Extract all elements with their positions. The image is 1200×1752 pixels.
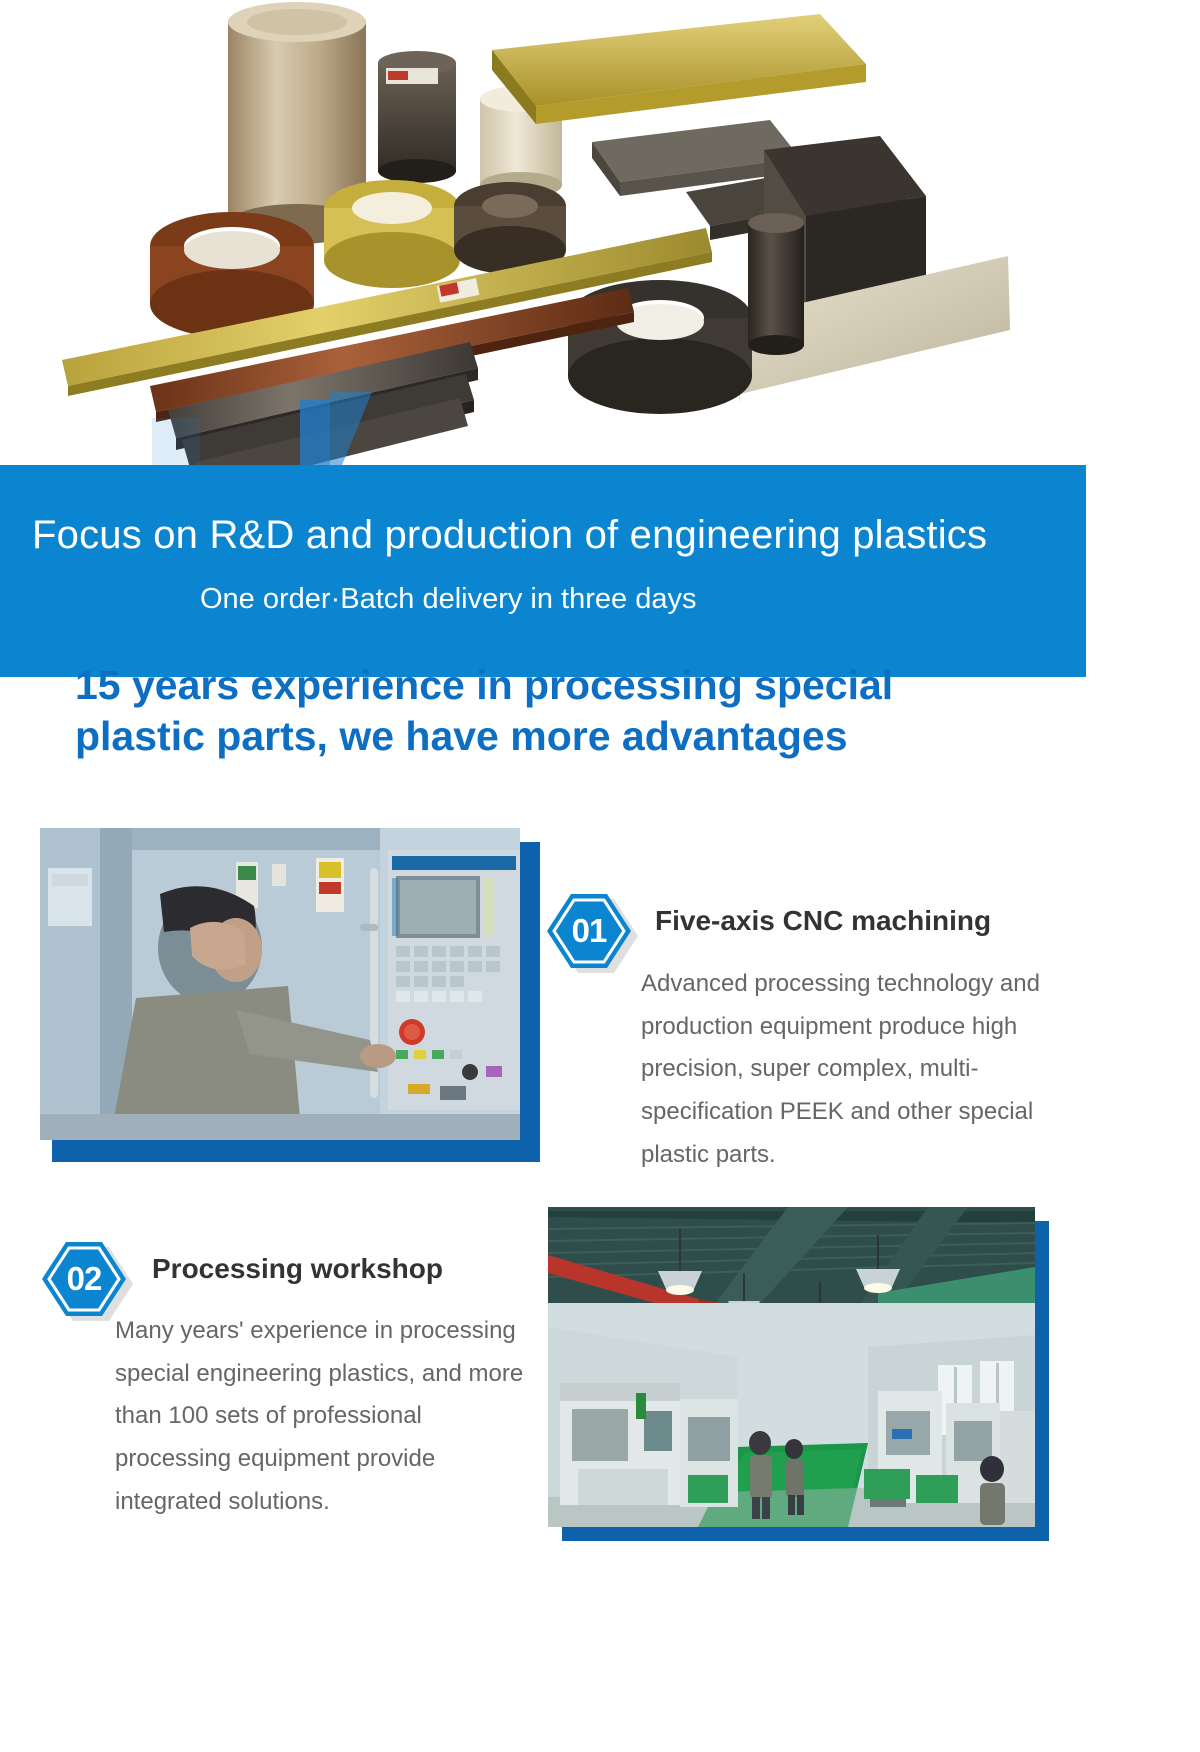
card-02-image-block xyxy=(548,1207,1048,1537)
cnc-operator-icon xyxy=(40,828,520,1140)
processing-workshop-photo xyxy=(548,1207,1035,1527)
plastics-product-photo-icon xyxy=(0,0,1086,470)
workshop-interior-icon xyxy=(548,1207,1035,1527)
banner-subtitle: One order·Batch delivery in three days xyxy=(200,583,696,616)
card-01-image-block xyxy=(40,828,528,1148)
hero-product-photo xyxy=(0,0,1086,470)
section-heading-line1: 15 years experience in processing specia… xyxy=(75,660,1045,711)
section-heading: 15 years experience in processing specia… xyxy=(75,660,1045,763)
banner-title: Focus on R&D and production of engineeri… xyxy=(32,513,987,558)
card-02-title: Processing workshop xyxy=(152,1253,443,1285)
card-01-number: 01 xyxy=(543,885,635,977)
product-detail-page: Focus on R&D and production of engineeri… xyxy=(0,0,1200,1752)
card-01-title: Five-axis CNC machining xyxy=(655,905,991,937)
card-01-body: Advanced processing technology and produ… xyxy=(641,963,1071,1177)
blue-tagline-banner: Focus on R&D and production of engineeri… xyxy=(0,465,1086,677)
section-heading-line2: plastic parts, we have more advantages xyxy=(75,711,1045,762)
cnc-machine-operator-photo xyxy=(40,828,520,1140)
card-01-number-badge: 01 xyxy=(543,885,635,977)
card-02-body: Many years' experience in processing spe… xyxy=(115,1310,535,1524)
